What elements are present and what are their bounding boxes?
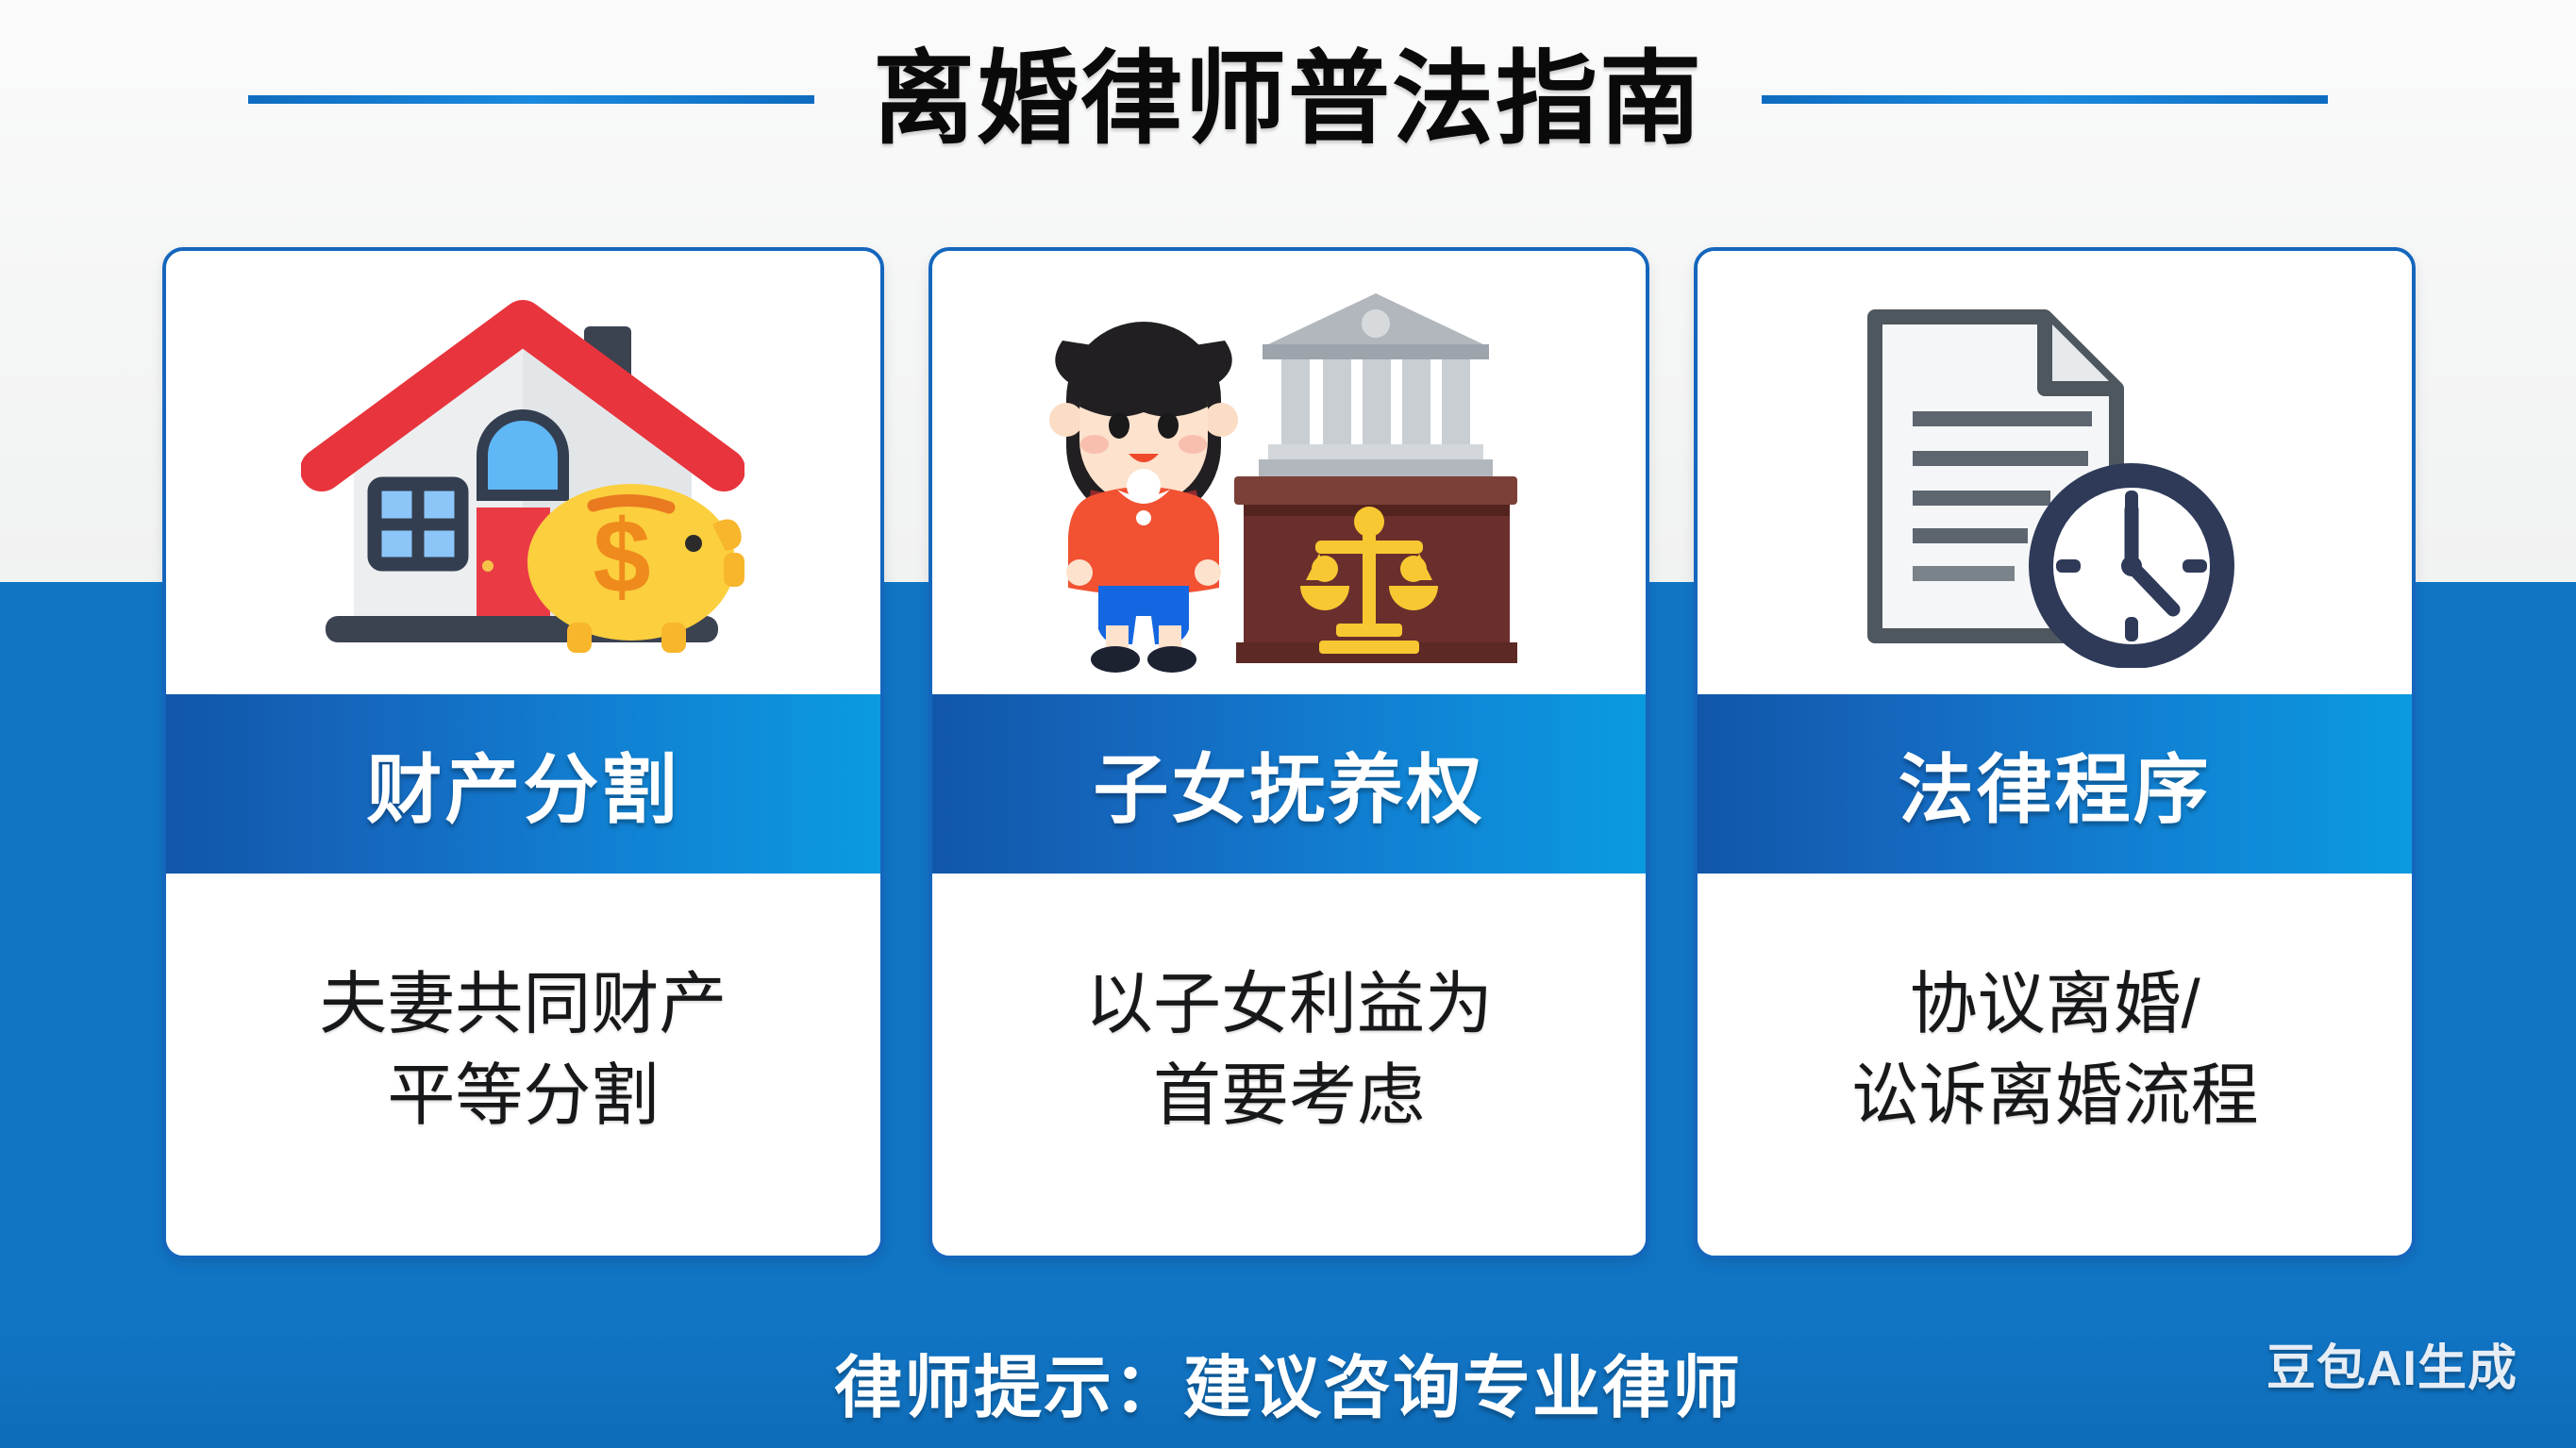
card-header-label: 财产分割 (366, 729, 679, 839)
card-property-division[interactable]: $ 财产分割 夫妻共同财产 平等分割 (162, 247, 884, 1259)
card-legal-procedure[interactable]: 法律程序 协议离婚/ 讼诉离婚流程 (1694, 247, 2416, 1259)
card-illustration (1698, 251, 2412, 694)
card-header: 子女抚养权 (932, 694, 1647, 874)
title-row: 离婚律师普法指南 (0, 28, 2576, 170)
page-title: 离婚律师普法指南 (814, 45, 1762, 152)
card-header-label: 子女抚养权 (1094, 729, 1485, 839)
footer: 律师提示：建议咨询专业律师 豆包AI生成 (0, 1311, 2576, 1448)
card-child-custody[interactable]: 子女抚养权 以子女利益为 首要考虑 (928, 247, 1650, 1259)
card-header: 法律程序 (1698, 694, 2412, 874)
card-illustration: $ (166, 251, 880, 694)
card-body-text: 协议离婚/ 讼诉离婚流程 (1851, 959, 2259, 1141)
watermark: 豆包AI生成 (2267, 1328, 2517, 1399)
footer-note: 律师提示：建议咨询专业律师 (0, 1332, 2576, 1431)
svg-text:$: $ (594, 499, 651, 615)
card-body-text: 以子女利益为 首要考虑 (1085, 959, 1493, 1141)
card-header-label: 法律程序 (1899, 729, 2212, 839)
child-with-courthouse-icon (1025, 286, 1553, 673)
card-body: 以子女利益为 首要考虑 (932, 874, 1647, 1256)
card-illustration (932, 251, 1647, 694)
document-with-clock-icon (1833, 291, 2277, 668)
title-rule-right (1762, 95, 2328, 104)
title-rule-left (248, 95, 814, 104)
card-body: 协议离婚/ 讼诉离婚流程 (1698, 874, 2412, 1256)
card-header: 财产分割 (166, 694, 880, 874)
card-body: 夫妻共同财产 平等分割 (166, 874, 880, 1256)
card-body-text: 夫妻共同财产 平等分割 (319, 959, 727, 1141)
card-grid: $ 财产分割 夫妻共同财产 平等分割 (162, 247, 2416, 1259)
house-with-piggy-bank-icon: $ (301, 291, 744, 668)
